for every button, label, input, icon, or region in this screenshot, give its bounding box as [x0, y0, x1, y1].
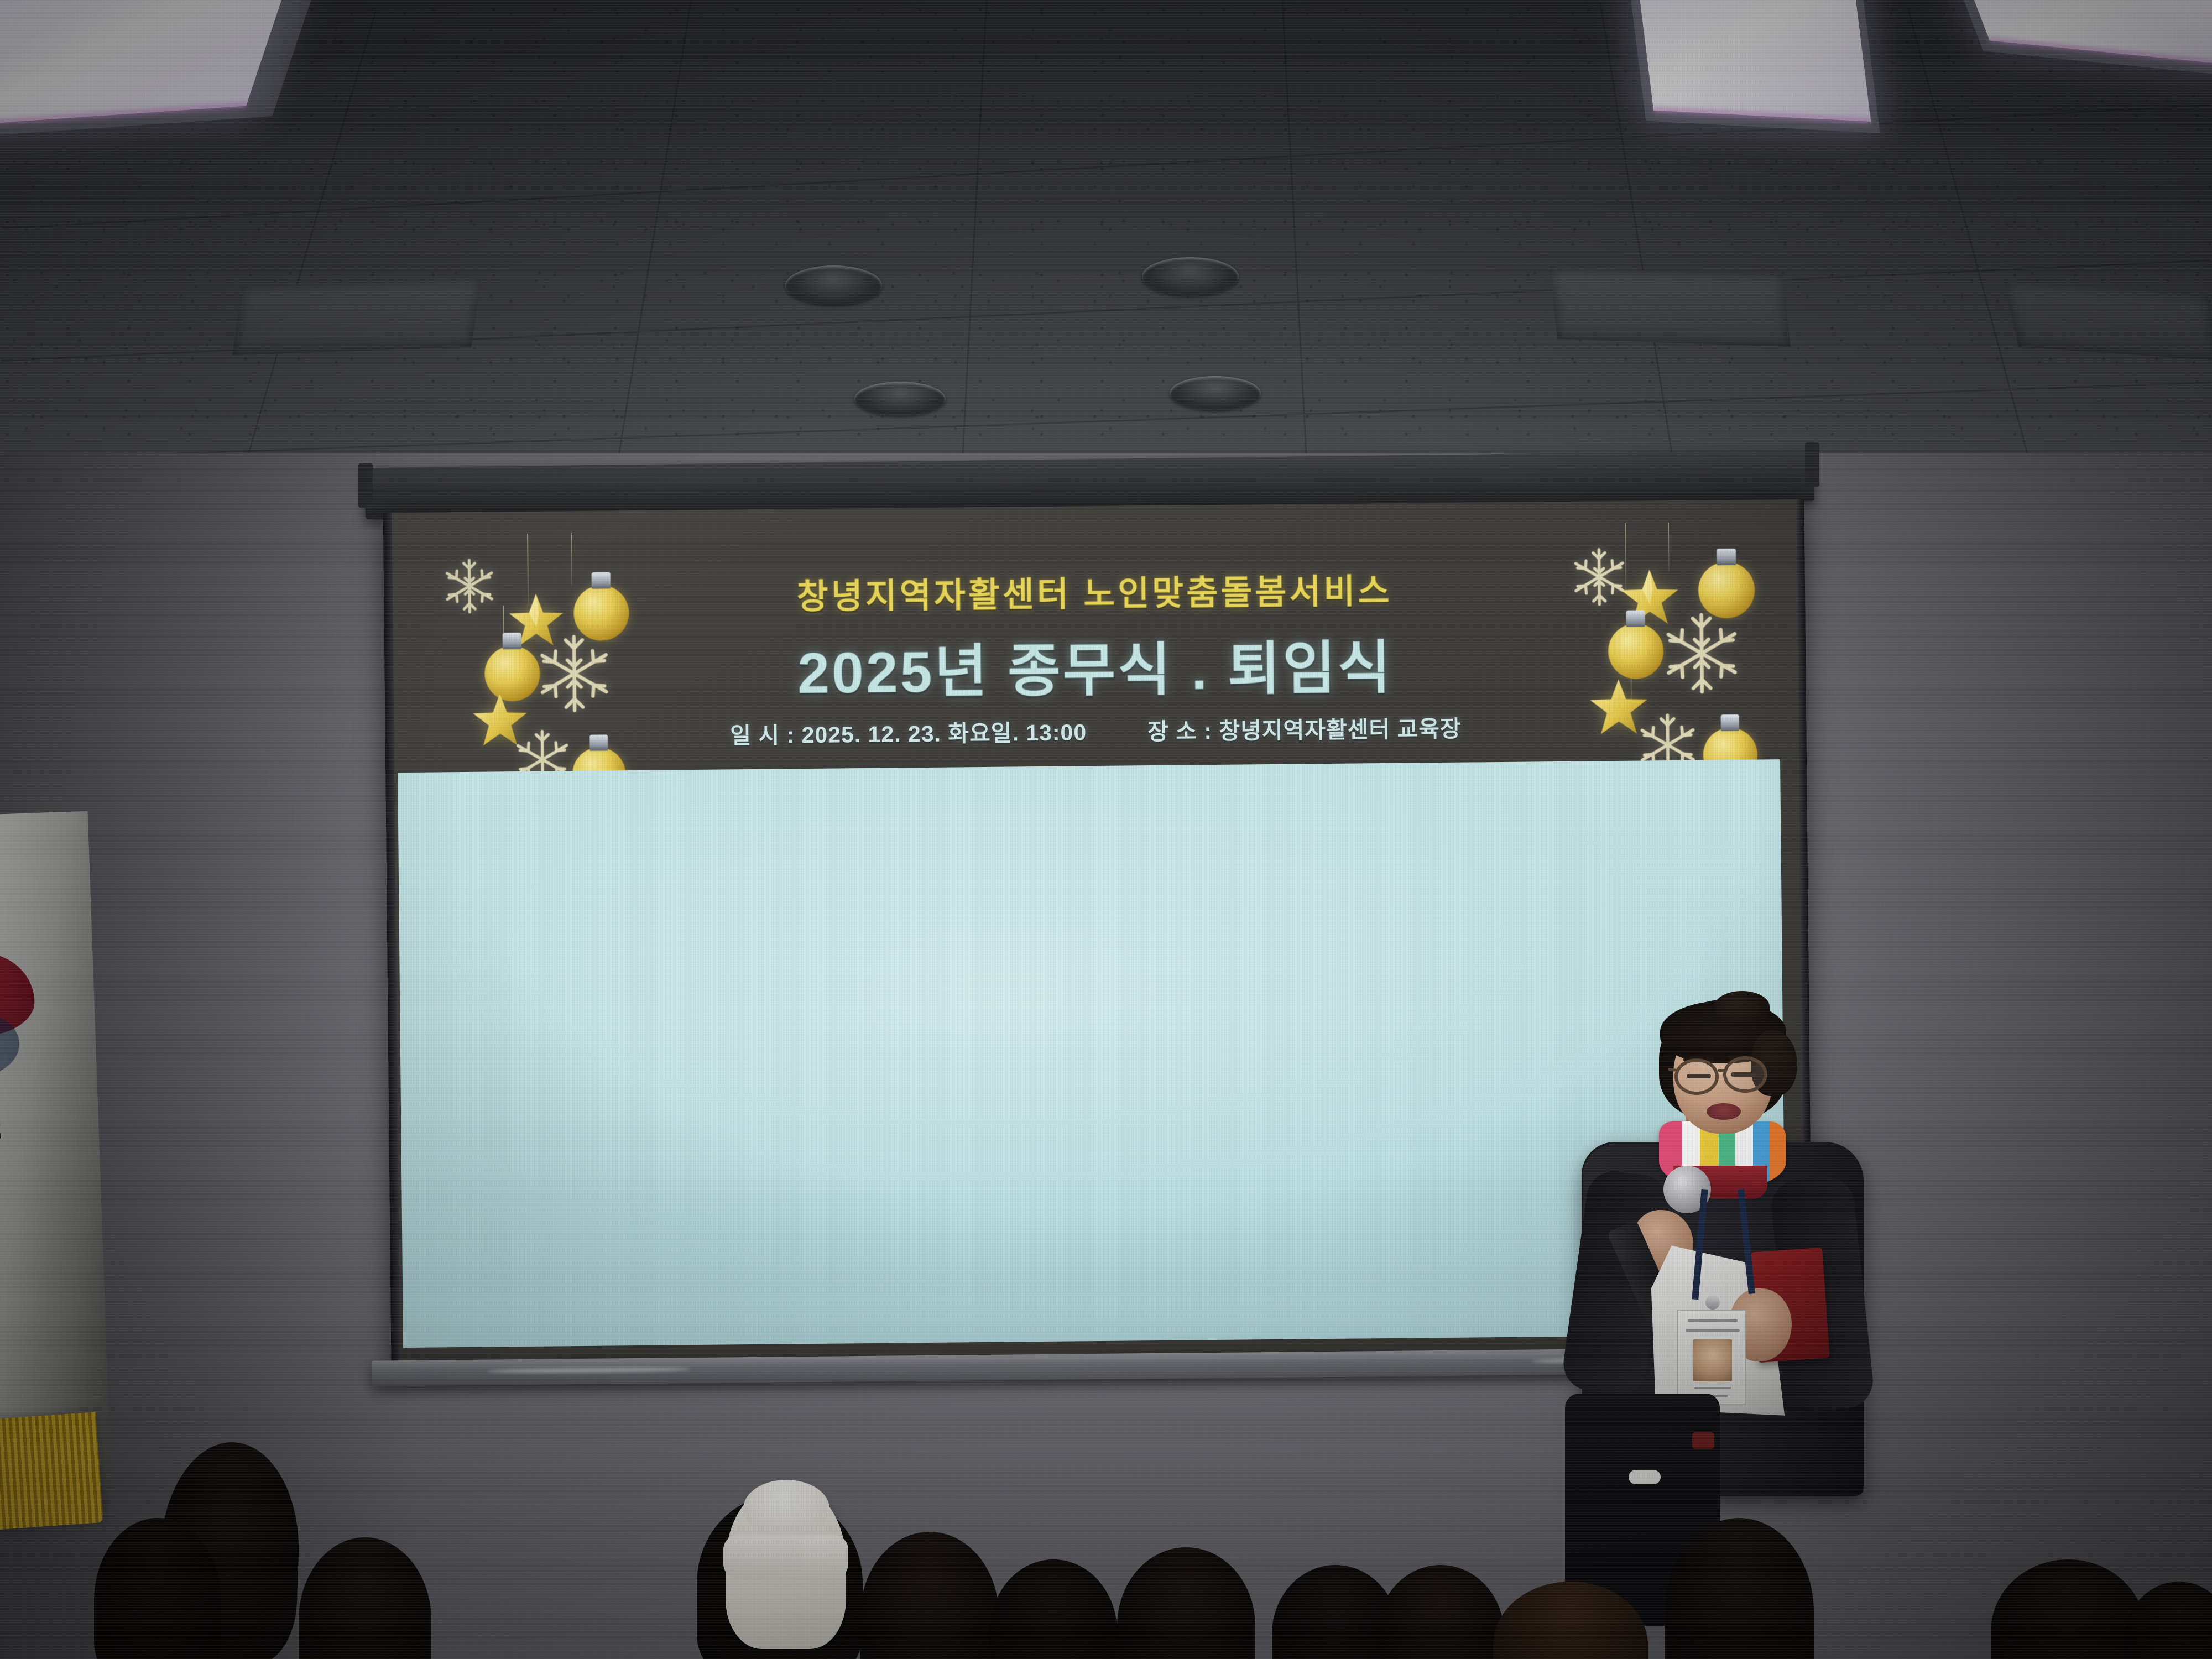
speaker-hair-top-tuft — [1714, 991, 1770, 1022]
audience-head — [1991, 1559, 2146, 1659]
ceiling — [0, 0, 2212, 465]
slide-info-place: 장 소 : 창녕지역자활센터 교육장 — [1147, 710, 1462, 746]
badge-text-line — [1686, 1329, 1740, 1332]
audience-head — [299, 1537, 431, 1659]
jacket-label-tag — [1629, 1470, 1661, 1484]
badge-photo — [1693, 1339, 1732, 1381]
ceiling-tile-recess-left — [232, 278, 481, 356]
downlight-icon-3 — [854, 382, 946, 416]
audience-head — [860, 1532, 999, 1659]
roller-cap-left — [358, 463, 373, 508]
badge-text-line — [1694, 1387, 1731, 1389]
downlight-icon-4 — [1170, 376, 1261, 410]
slide-title: 2025년 종무식 . 퇴임식 — [384, 617, 1806, 714]
roller-cap-right — [1805, 442, 1819, 487]
badge-text-line — [1688, 1319, 1738, 1322]
jacket-accent — [1692, 1432, 1714, 1449]
eyeglasses-bridge — [1718, 1069, 1726, 1072]
downlight-icon-2 — [1142, 257, 1239, 296]
id-badge — [1677, 1310, 1746, 1405]
beanie-crown — [743, 1480, 830, 1537]
audience-row — [0, 1399, 2212, 1659]
eyeglasses-lens-right — [1723, 1056, 1767, 1093]
audience-head — [1377, 1565, 1504, 1659]
ceiling-tile-grid — [0, 0, 2212, 465]
audience-head — [1117, 1547, 1255, 1659]
downlight-icon-1 — [785, 265, 882, 305]
ceiling-light-panel-center — [1635, 0, 1871, 122]
beanie-brim — [723, 1535, 848, 1578]
slide-info-date: 일 시 : 2025. 12. 23. 화요일. 13:00 — [730, 713, 1087, 750]
speaker-mouth — [1707, 1103, 1741, 1120]
slide-title-block: 2025년 종무식 . 퇴임식 — [384, 617, 1806, 714]
photo-scene: 창녕지역자활센터 노인맞춤돌봄서비스 2025년 종무식 . 퇴임식 일 시 :… — [0, 0, 2212, 1659]
badge-clip — [1705, 1295, 1720, 1310]
audience-head — [990, 1559, 1117, 1659]
eyeglasses-lens-left — [1674, 1058, 1719, 1095]
audience-head — [2124, 1582, 2212, 1659]
ceiling-tile-recess-right — [1550, 267, 1791, 347]
